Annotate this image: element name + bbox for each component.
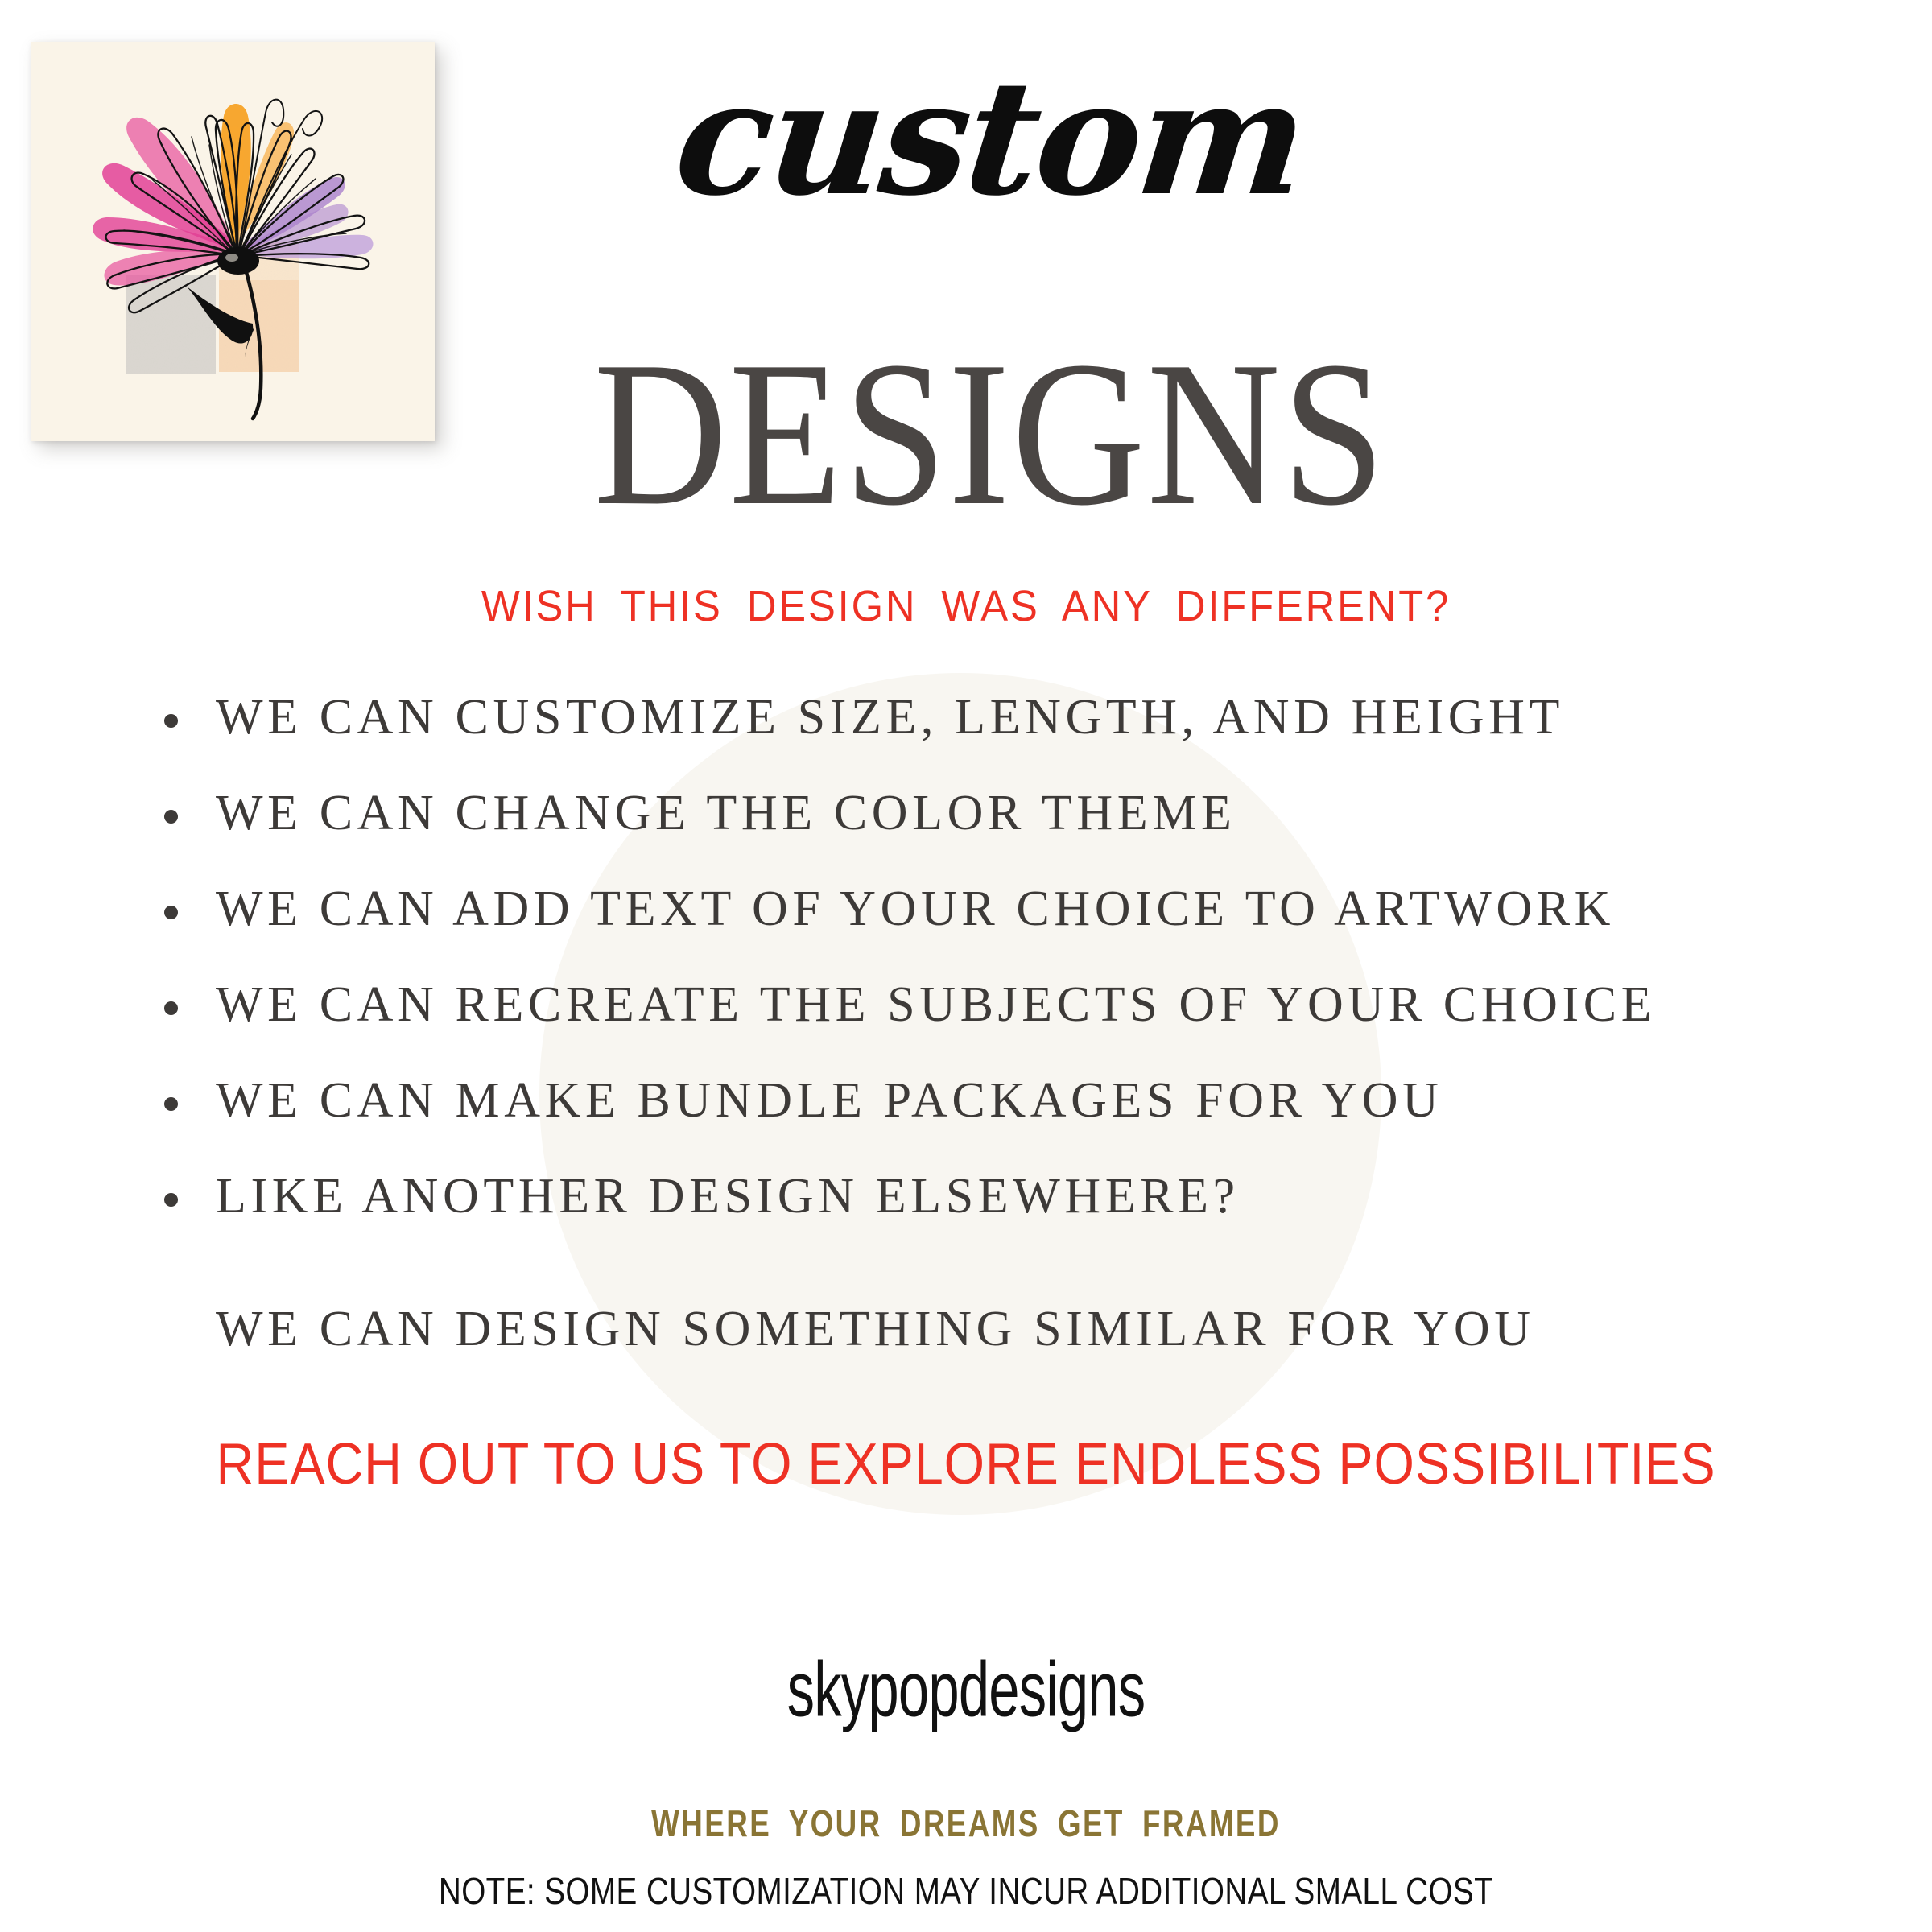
footnote-disclaimer: NOTE: SOME CUSTOMIZATION MAY INCUR ADDIT… bbox=[155, 1869, 1777, 1913]
list-item: WE CAN RECREATE THE SUBJECTS OF YOUR CHO… bbox=[161, 980, 1819, 1030]
list-item: WE CAN CHANGE THE COLOR THEME bbox=[161, 788, 1819, 838]
bullet-dot-icon bbox=[164, 714, 178, 728]
list-item-label: WE CAN CUSTOMIZE SIZE, LENGTH, AND HEIGH… bbox=[216, 690, 1564, 745]
list-item-label: WE CAN CHANGE THE COLOR THEME bbox=[216, 786, 1236, 840]
call-to-action-text: REACH OUT TO US TO EXPLORE ENDLESS POSSI… bbox=[97, 1431, 1835, 1497]
brand-tagline: WHERE YOUR DREAMS GET FRAMED bbox=[193, 1802, 1739, 1845]
list-item: WE CAN CUSTOMIZE SIZE, LENGTH, AND HEIGH… bbox=[161, 692, 1819, 742]
bullet-dot-icon bbox=[164, 1001, 178, 1015]
list-item-label: LIKE ANOTHER DESIGN ELSEWHERE? bbox=[216, 1169, 1240, 1224]
list-item-label: WE CAN ADD TEXT OF YOUR CHOICE TO ARTWOR… bbox=[216, 881, 1615, 936]
bullet-dot-icon bbox=[164, 810, 178, 824]
bullet-dot-icon bbox=[164, 1097, 178, 1111]
list-item-label: WE CAN MAKE BUNDLE PACKAGES FOR YOU bbox=[216, 1073, 1443, 1128]
customization-options-list: WE CAN CUSTOMIZE SIZE, LENGTH, AND HEIGH… bbox=[161, 692, 1819, 1267]
list-item: LIKE ANOTHER DESIGN ELSEWHERE? bbox=[161, 1171, 1819, 1221]
bullet-dot-icon bbox=[164, 906, 178, 919]
promo-poster: custom DESIGNS WISH THIS DESIGN WAS ANY … bbox=[0, 0, 1932, 1932]
page-title-designs: DESIGNS bbox=[0, 330, 1932, 538]
list-item-label: WE CAN RECREATE THE SUBJECTS OF YOUR CHO… bbox=[216, 977, 1656, 1032]
bullet-dot-icon bbox=[164, 1193, 178, 1207]
brand-name: skypopdesigns bbox=[193, 1645, 1739, 1735]
list-item: WE CAN ADD TEXT OF YOUR CHOICE TO ARTWOR… bbox=[161, 884, 1819, 934]
list-item-continuation: WE CAN DESIGN SOMETHING SIMILAR FOR YOU bbox=[216, 1304, 1535, 1354]
subtitle-question: WISH THIS DESIGN WAS ANY DIFFERENT? bbox=[58, 581, 1874, 631]
list-item: WE CAN MAKE BUNDLE PACKAGES FOR YOU bbox=[161, 1075, 1819, 1125]
script-headline-custom: custom bbox=[0, 60, 1932, 217]
